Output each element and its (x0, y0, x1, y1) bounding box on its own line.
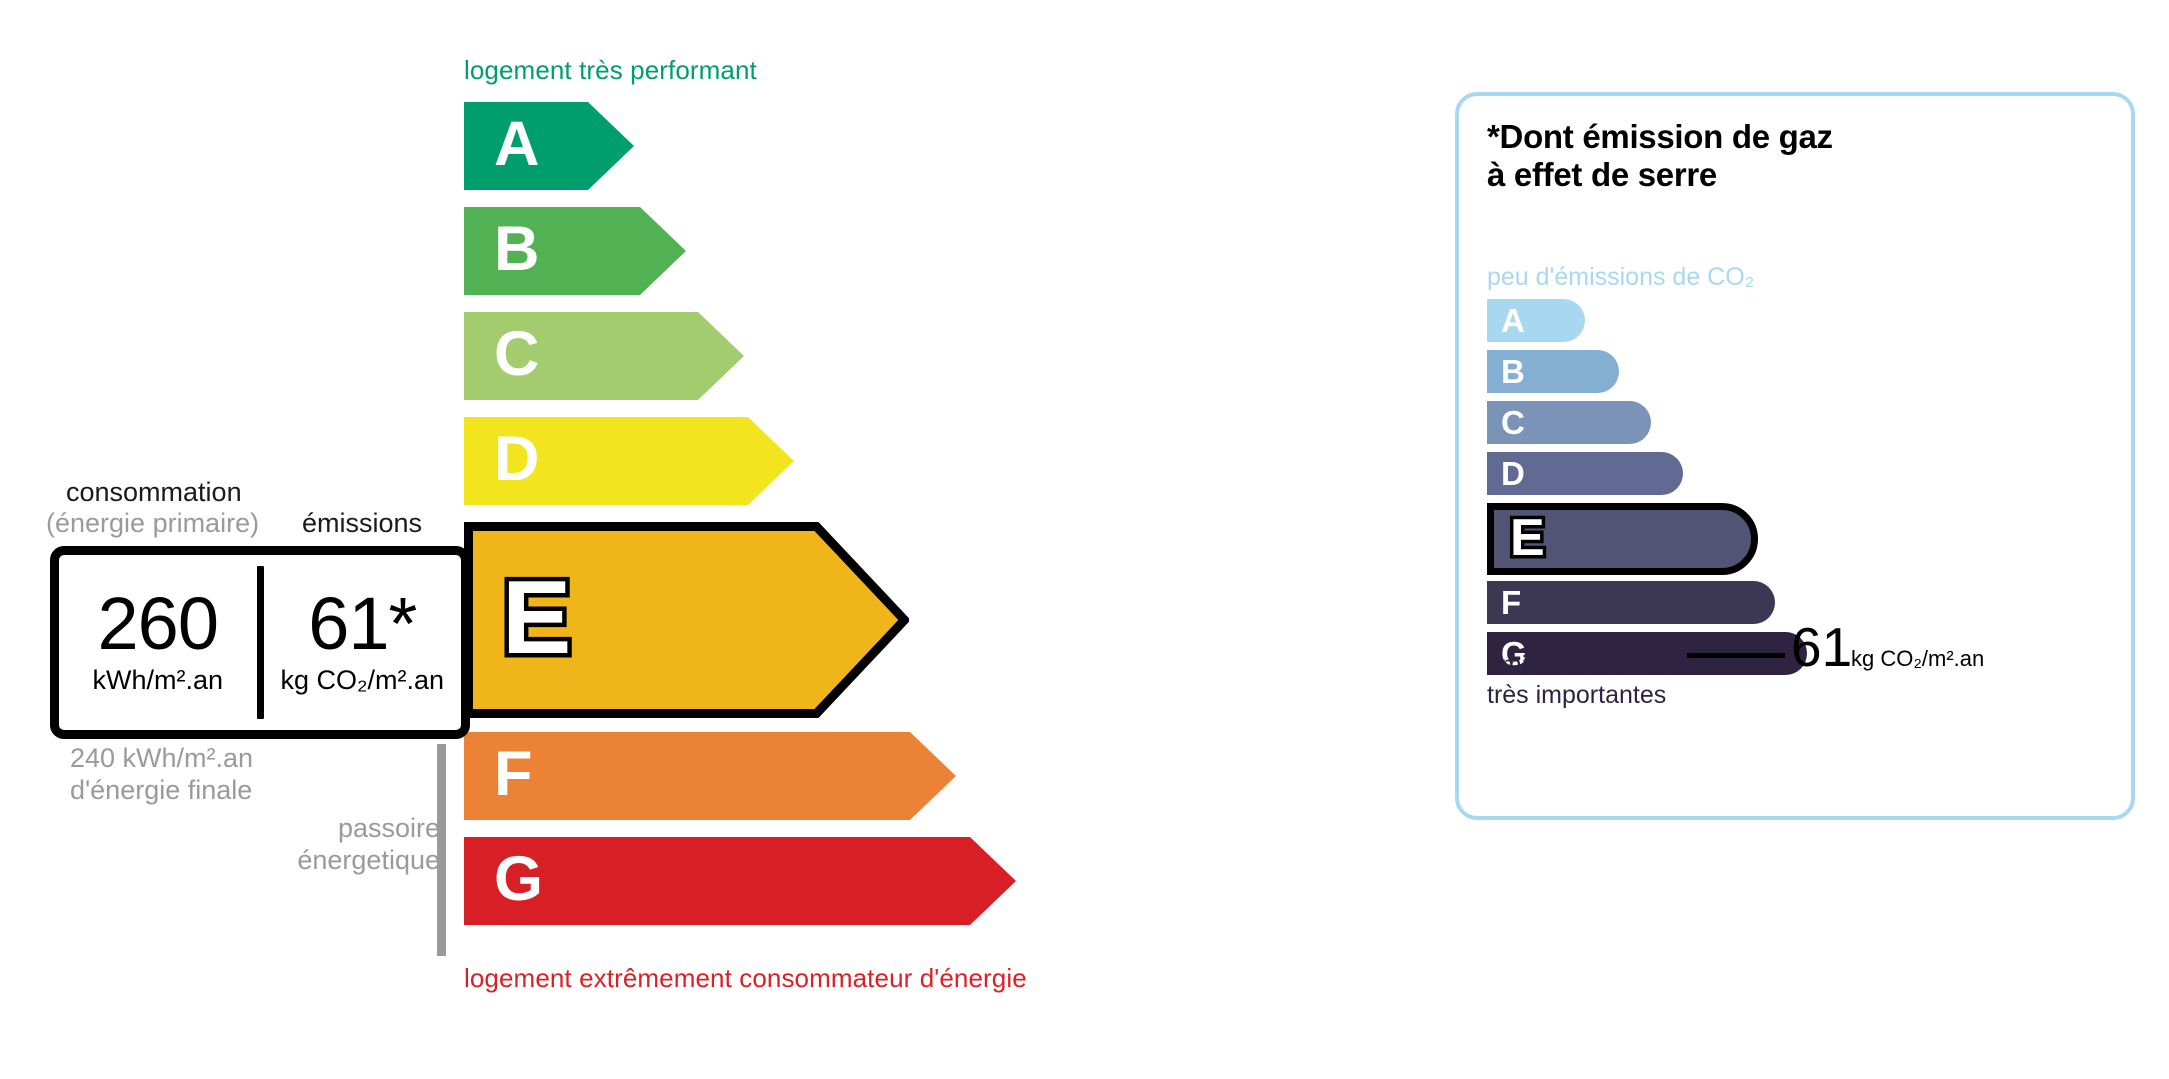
primary-energy-value: 260 (98, 589, 218, 659)
energy-band-d[interactable]: D (464, 417, 1324, 505)
co2-bar-b[interactable]: B (1487, 350, 1619, 393)
co2-callout-unit: kg CO₂/m².an (1851, 646, 1984, 672)
energy-band-c[interactable]: C (464, 312, 1324, 400)
co2-bar-letter-f: F (1501, 585, 1521, 618)
passoire-line-2: énergetique (290, 845, 440, 877)
energy-band-f[interactable]: F (464, 732, 1324, 820)
energy-top-caption: logement très performant (464, 55, 757, 86)
energy-performance-panel: logement très performant ABCDEFG logemen… (0, 0, 1380, 1079)
consumption-sublabel: (énergie primaire) (46, 508, 259, 539)
energy-band-letter-a: A (494, 113, 540, 176)
energy-band-a[interactable]: A (464, 102, 1324, 190)
co2-bar-d[interactable]: D (1487, 452, 1683, 495)
co2-emission-unit: kg CO₂/m².an (280, 665, 444, 696)
co2-bar-f[interactable]: F (1487, 581, 1775, 624)
primary-energy-cell: 260 kWh/m².an (59, 555, 257, 730)
emissions-label: émissions (302, 508, 422, 539)
energy-band-letter-g: G (494, 848, 543, 911)
co2-title-line-2: à effet de serre (1487, 156, 1833, 194)
co2-callout-leader-line (1687, 653, 1785, 658)
value-summary-box: 260 kWh/m².an 61* kg CO₂/m².an (50, 546, 470, 739)
co2-callout-value: 61 (1791, 620, 1852, 675)
energy-band-g[interactable]: G (464, 837, 1324, 925)
co2-bar-letter-d: D (1501, 456, 1525, 489)
final-energy-line-2: d'énergie finale (70, 775, 253, 807)
energy-band-shape-f (464, 732, 956, 820)
co2-panel-title: *Dont émission de gaz à effet de serre (1487, 118, 1833, 195)
energy-band-shape-a (464, 102, 634, 190)
co2-bar-e[interactable]: E (1487, 503, 1758, 575)
co2-bottom-line-2: très importantes (1487, 680, 1687, 710)
co2-bottom-caption: émissions de CO₂ très importantes (1487, 650, 1687, 710)
co2-bar-a[interactable]: A (1487, 299, 1585, 342)
co2-bar-letter-b: B (1501, 354, 1525, 387)
co2-bottom-line-1: émissions de CO₂ (1487, 650, 1687, 680)
co2-bar-c[interactable]: C (1487, 401, 1651, 444)
passoire-line-1: passoire (290, 813, 440, 845)
co2-bar-letter-c: C (1501, 405, 1525, 438)
value-box-divider (257, 566, 264, 719)
energy-band-b[interactable]: B (464, 207, 1324, 295)
co2-emissions-panel: *Dont émission de gaz à effet de serre p… (1455, 92, 2135, 820)
energy-bottom-caption: logement extrêmement consommateur d'éner… (464, 963, 1027, 994)
energy-band-letter-f: F (494, 743, 532, 806)
co2-emission-value: 61* (308, 589, 416, 659)
energy-band-e[interactable]: E (464, 522, 1324, 718)
co2-title-line-1: *Dont émission de gaz (1487, 118, 1833, 156)
co2-top-caption: peu d'émissions de CO₂ (1487, 263, 1754, 292)
energy-band-letter-c: C (494, 323, 540, 386)
energy-band-letter-b: B (494, 218, 540, 281)
co2-bar-letter-a: A (1501, 303, 1525, 336)
energy-band-letter-d: D (494, 428, 540, 491)
energy-band-letter-e: E (502, 566, 571, 670)
dpe-label: logement très performant ABCDEFG logemen… (0, 0, 2169, 1079)
energy-band-shape-g (464, 837, 1016, 925)
passoire-bracket-line (437, 744, 446, 956)
co2-bar-letter-e: E (1510, 512, 1545, 564)
consumption-label: consommation (66, 477, 242, 508)
passoire-energetique-note: passoire énergetique (290, 813, 440, 877)
final-energy-line-1: 240 kWh/m².an (70, 743, 253, 775)
primary-energy-unit: kWh/m².an (92, 665, 223, 696)
energy-band-list: ABCDEFG (464, 102, 1324, 942)
final-energy-note: 240 kWh/m².an d'énergie finale (70, 743, 253, 807)
co2-emission-cell: 61* kg CO₂/m².an (264, 555, 462, 730)
